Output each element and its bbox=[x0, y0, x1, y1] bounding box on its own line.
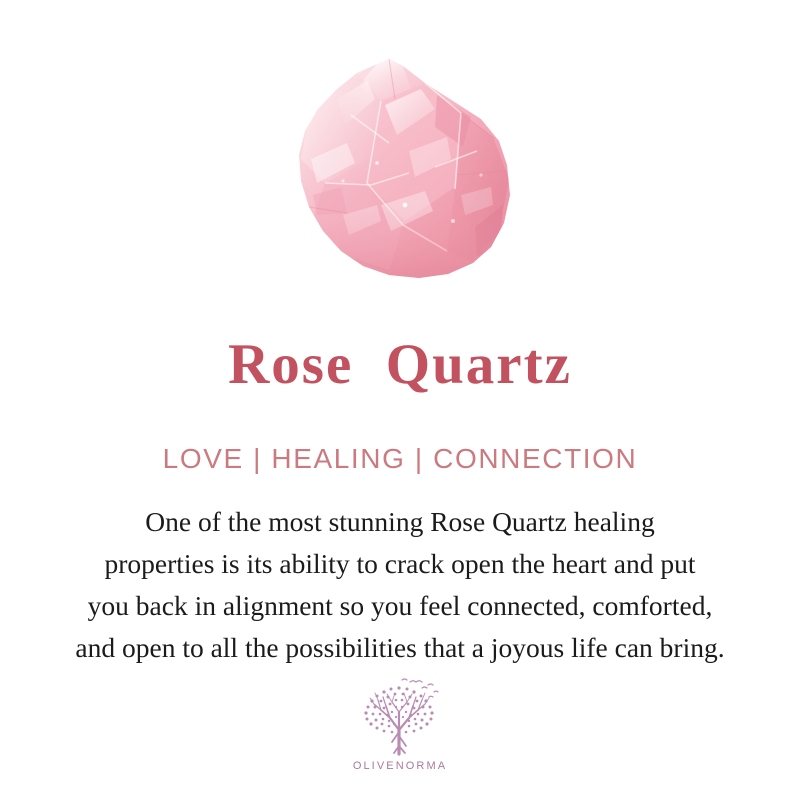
subtitle-keywords: LOVE | HEALING | CONNECTION bbox=[0, 443, 800, 475]
description-line: and open to all the possibilities that a… bbox=[30, 627, 770, 669]
brand-logo: OLIVENORMA bbox=[0, 676, 800, 772]
brand-wordmark: OLIVENORMA bbox=[353, 760, 447, 772]
rose-quartz-info-card: Rose Quartz LOVE | HEALING | CONNECTION … bbox=[0, 0, 800, 800]
description-line: One of the most stunning Rose Quartz hea… bbox=[30, 501, 770, 543]
description-line: properties is its ability to crack open … bbox=[30, 543, 770, 585]
page-title: Rose Quartz bbox=[0, 334, 800, 396]
tree-of-life-icon bbox=[352, 676, 448, 758]
crystal-body bbox=[299, 59, 511, 285]
description-line: you back in alignment so you feel connec… bbox=[30, 585, 770, 627]
rose-quartz-crystal-image bbox=[285, 55, 520, 285]
description-text: One of the most stunning Rose Quartz hea… bbox=[30, 501, 770, 669]
